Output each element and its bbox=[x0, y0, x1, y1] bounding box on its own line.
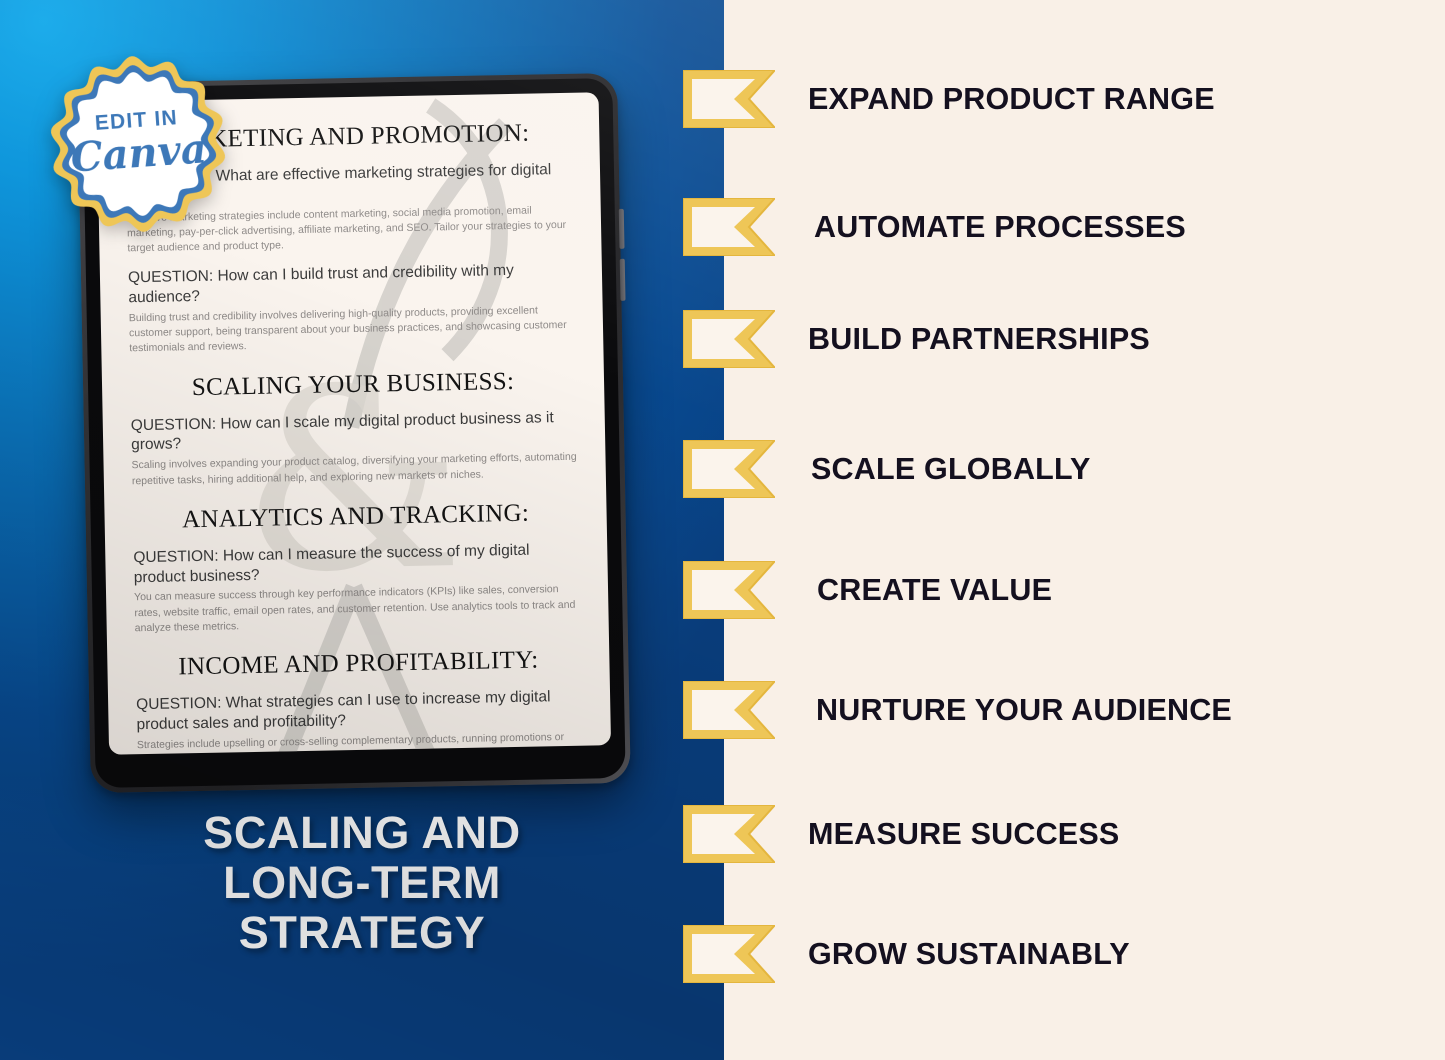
flag-item[interactable]: MEASURE SUCCESS bbox=[683, 805, 1445, 863]
flag-banner-icon bbox=[683, 561, 775, 619]
flag-label: CREATE VALUE bbox=[817, 561, 1052, 619]
flag-item[interactable]: SCALE GLOBALLY bbox=[683, 440, 1445, 498]
flag-label: GROW SUSTAINABLY bbox=[808, 925, 1130, 983]
flag-label: NURTURE YOUR AUDIENCE bbox=[816, 681, 1232, 739]
flag-banner-icon bbox=[683, 925, 775, 983]
flag-label: EXPAND PRODUCT RANGE bbox=[808, 70, 1215, 128]
flag-banner-icon bbox=[683, 310, 775, 368]
badge-line-2: Canva bbox=[69, 125, 208, 181]
flag-label: AUTOMATE PROCESSES bbox=[814, 198, 1186, 256]
flag-item[interactable]: BUILD PARTNERSHIPS bbox=[683, 310, 1445, 368]
flag-banner-icon bbox=[683, 681, 775, 739]
flag-item[interactable]: GROW SUSTAINABLY bbox=[683, 925, 1445, 983]
flag-item[interactable]: AUTOMATE PROCESSES bbox=[683, 198, 1445, 256]
flag-item[interactable]: CREATE VALUE bbox=[683, 561, 1445, 619]
flag-banner-icon bbox=[683, 70, 775, 128]
flag-item[interactable]: EXPAND PRODUCT RANGE bbox=[683, 70, 1445, 128]
flag-banner-icon bbox=[683, 198, 775, 256]
flag-banner-icon bbox=[683, 440, 775, 498]
flag-label: BUILD PARTNERSHIPS bbox=[808, 310, 1150, 368]
edit-in-canva-badge[interactable]: EDIT IN Canva bbox=[42, 48, 234, 240]
flag-banner-icon bbox=[683, 805, 775, 863]
flag-item[interactable]: NURTURE YOUR AUDIENCE bbox=[683, 681, 1445, 739]
flag-label: MEASURE SUCCESS bbox=[808, 805, 1119, 863]
flag-label: SCALE GLOBALLY bbox=[811, 440, 1091, 498]
